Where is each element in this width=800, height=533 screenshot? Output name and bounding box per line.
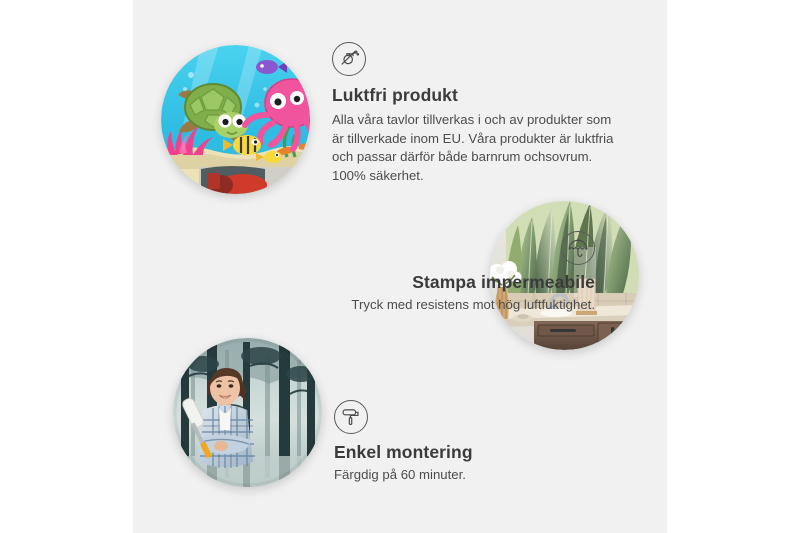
no-spray-bottle-icon	[332, 42, 366, 76]
feature-body: Alla våra tavlor tillverkas i och av pro…	[332, 111, 615, 186]
screenshot-canvas: Luktfri produkt Alla våra tavlor tillver…	[0, 0, 800, 533]
feature-odour-free: Luktfri produkt Alla våra tavlor tillver…	[332, 42, 632, 186]
photo-ocean-kids-mural	[161, 45, 310, 194]
features-panel: Luktfri produkt Alla våra tavlor tillver…	[133, 0, 667, 533]
paint-roller-icon	[334, 400, 368, 434]
feature-easy-mounting: Enkel montering Färgdig på 60 minuter.	[334, 400, 634, 485]
feature-title: Enkel montering	[334, 442, 634, 463]
umbrella-icon	[561, 231, 595, 265]
feature-body: Tryck med resistens mot hög luftfuktighe…	[193, 296, 595, 315]
photo-forest-mural-woman	[173, 338, 322, 487]
icon-row	[193, 231, 595, 272]
feature-body: Färgdig på 60 minuter.	[334, 466, 634, 485]
feature-title: Stampa impermeabile	[193, 272, 595, 293]
feature-waterproof-print: Stampa impermeabile Tryck med resistens …	[193, 231, 595, 315]
feature-title: Luktfri produkt	[332, 85, 632, 106]
